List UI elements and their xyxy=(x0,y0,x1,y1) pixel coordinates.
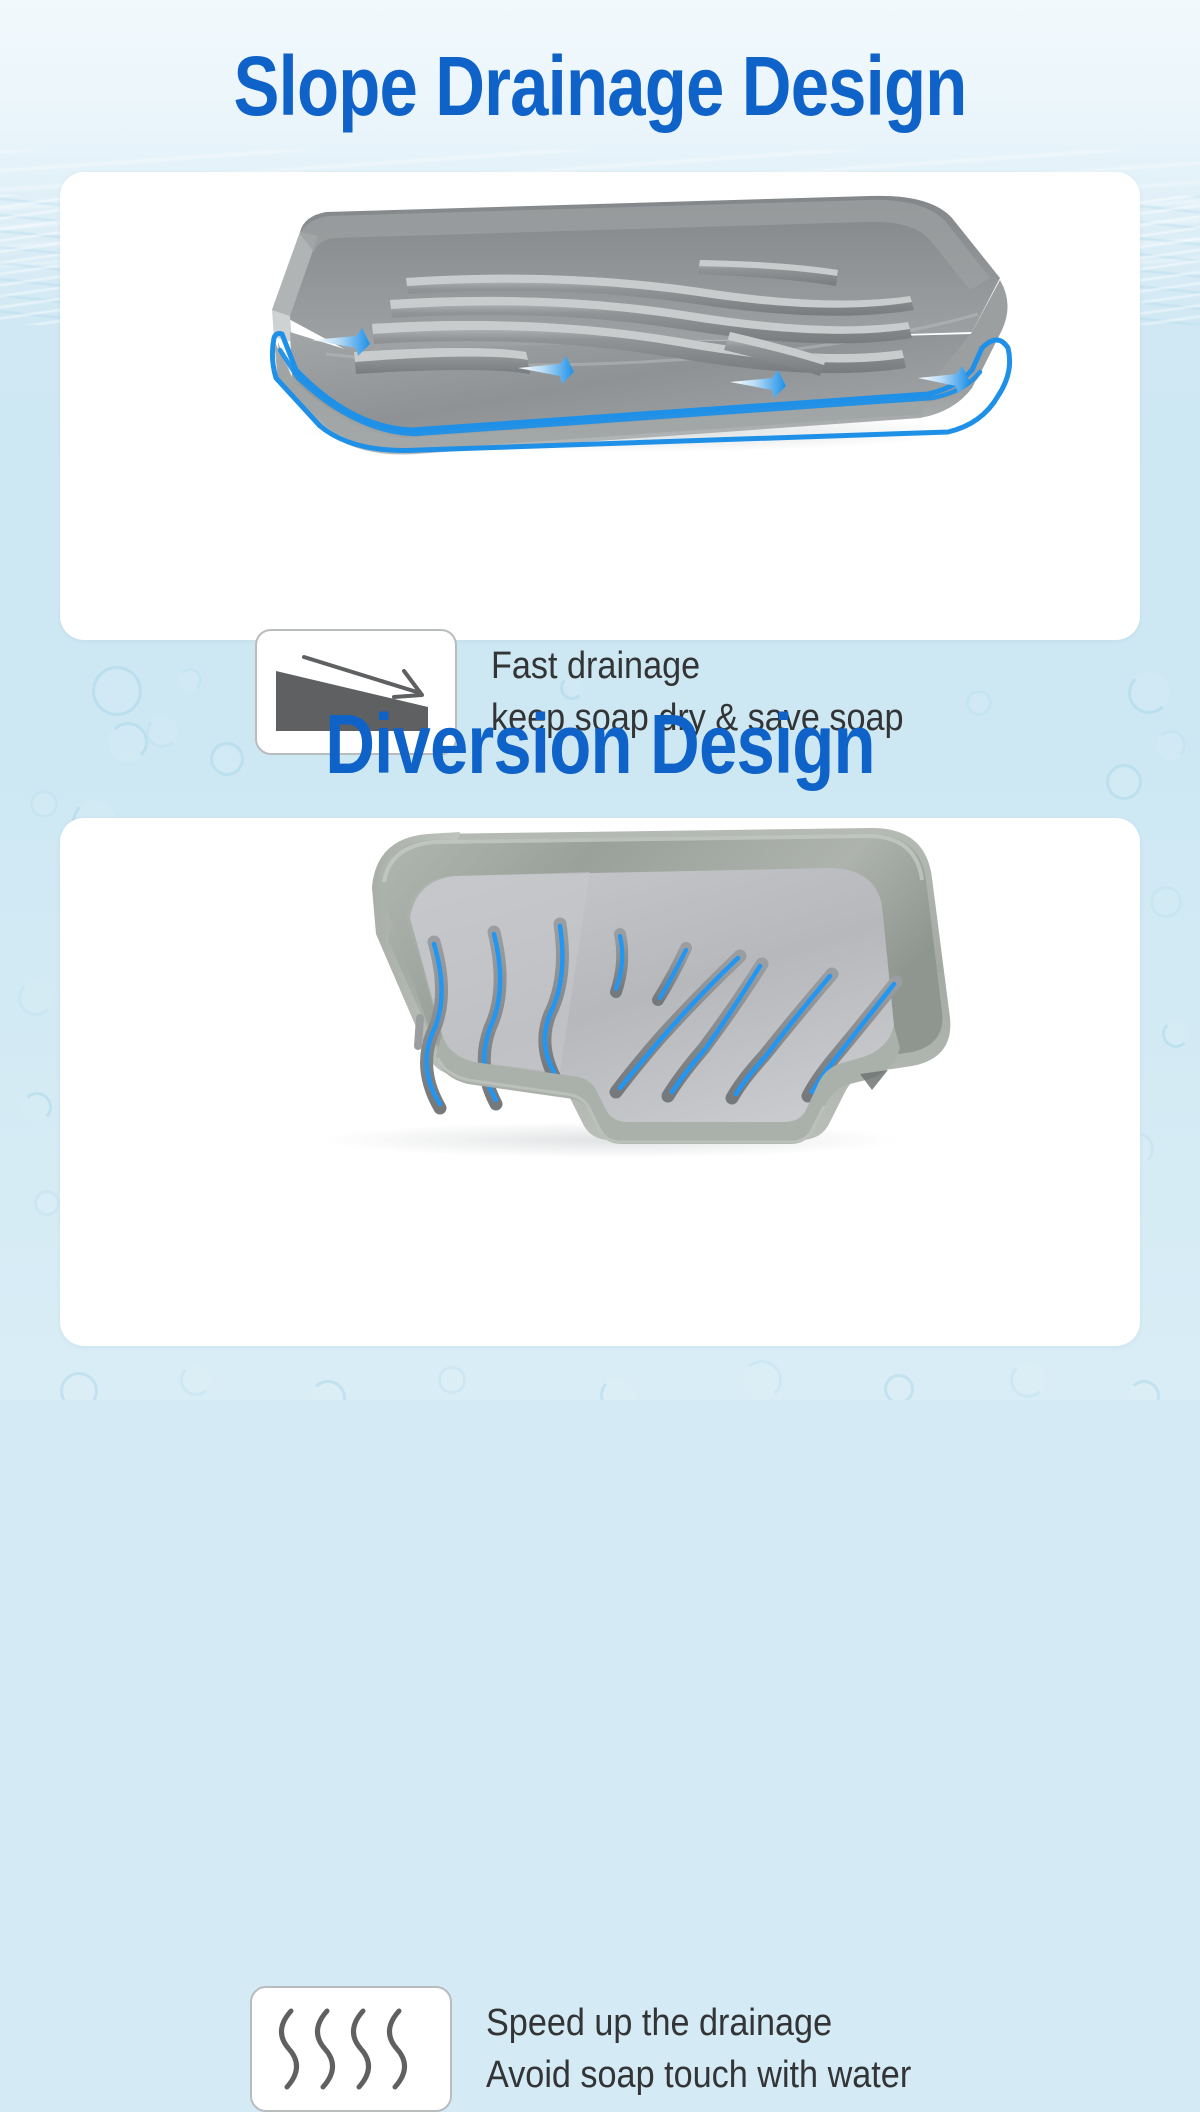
bubble-icon xyxy=(310,1380,346,1400)
feature-line-2: Avoid soap touch with water xyxy=(486,2049,911,2101)
card-diversion-design: Speed up the drainage Avoid soap touch w… xyxy=(60,818,1140,1346)
bubble-icon xyxy=(180,1364,212,1396)
section-title-diversion-design: Diversion Design xyxy=(108,694,1092,794)
bubble-icon xyxy=(1128,1380,1160,1400)
bubble-icon xyxy=(1156,730,1186,760)
bubble-icon xyxy=(1010,1362,1046,1398)
bubble-icon xyxy=(18,980,54,1016)
bubble-icon xyxy=(1162,1020,1190,1048)
feature-text-speed-up-drainage: Speed up the drainage Avoid soap touch w… xyxy=(486,1997,911,2101)
bubble-icon xyxy=(60,1372,98,1400)
bubble-icon xyxy=(22,1092,52,1122)
bubble-icon xyxy=(1150,886,1182,918)
section-title-slope-drainage: Slope Drainage Design xyxy=(108,36,1092,136)
card-slope-drainage: Fast drainage keep soap dry & save soap xyxy=(60,172,1140,640)
product-image-diversion-soap-tray xyxy=(260,822,960,1162)
bubble-icon xyxy=(742,1360,782,1400)
bubble-icon xyxy=(884,1374,914,1400)
bubble-icon xyxy=(1128,672,1170,714)
bubble-icon xyxy=(30,790,58,818)
bubble-icon xyxy=(1106,764,1142,800)
bubble-icon xyxy=(178,668,202,692)
bubble-icon xyxy=(34,1190,60,1216)
wave-lines-icon xyxy=(250,1986,452,2112)
feature-line-1: Fast drainage xyxy=(491,640,904,692)
product-image-sloped-soap-dish xyxy=(230,182,1020,457)
feature-line-1: Speed up the drainage xyxy=(486,1997,911,2049)
feature-row-speed-up-drainage: Speed up the drainage Avoid soap touch w… xyxy=(250,1986,958,2112)
bubble-icon xyxy=(438,1366,466,1394)
bubble-icon xyxy=(600,1378,634,1400)
